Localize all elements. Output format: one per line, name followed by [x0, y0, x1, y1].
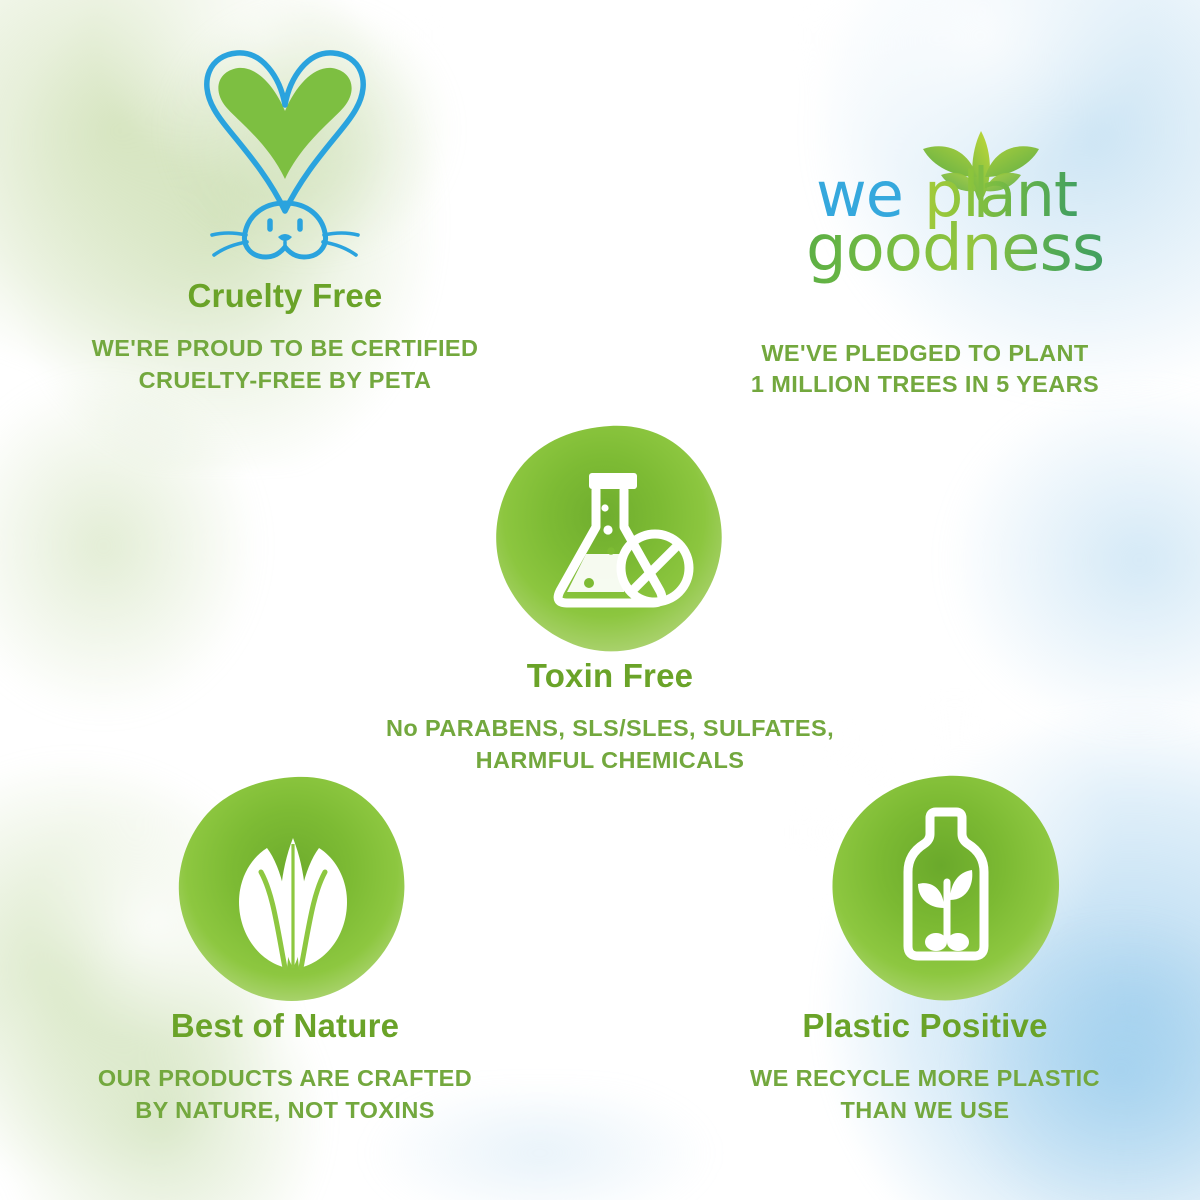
subtext-plastic-positive-line-1: WE RECYCLE MORE PLASTIC: [670, 1063, 1180, 1094]
subtext-plant-pledge-line-1: WE'VE PLEDGED TO PLANT: [670, 338, 1180, 369]
subtext-toxin-free-line-2: HARMFUL CHEMICALS: [350, 745, 870, 776]
logo-word-goodness: goodness: [806, 212, 1104, 286]
subtext-best-of-nature-line-2: BY NATURE, NOT TOXINS: [30, 1095, 540, 1126]
section-cruelty-free-text: Cruelty Free WE'RE PROUD TO BE CERTIFIED…: [30, 278, 540, 396]
watercolor-wash-left-middle: [0, 330, 280, 810]
subtext-cruelty-free-line-2: CRUELTY-FREE BY PETA: [30, 365, 540, 396]
subtext-best-of-nature-line-1: OUR PRODUCTS ARE CRAFTED: [30, 1063, 540, 1094]
section-toxin-free-text: Toxin Free No PARABENS, SLS/SLES, SULFAT…: [350, 658, 870, 776]
heading-plastic-positive: Plastic Positive: [670, 1008, 1180, 1044]
subtext-plastic-positive-line-2: THAN WE USE: [670, 1095, 1180, 1126]
section-we-plant-goodness-text: WE'VE PLEDGED TO PLANT 1 MILLION TREES I…: [670, 338, 1180, 401]
leaves-icon: [173, 772, 413, 1012]
bottle-sprout-icon: [826, 772, 1066, 1012]
heading-best-of-nature: Best of Nature: [30, 1008, 540, 1044]
infographic-canvas: Cruelty Free WE'RE PROUD TO BE CERTIFIED…: [0, 0, 1200, 1200]
heading-cruelty-free: Cruelty Free: [30, 278, 540, 314]
flask-no-entry-icon: [490, 420, 730, 660]
bunny-heart-icon: [190, 35, 380, 265]
subtext-plant-pledge-line-2: 1 MILLION TREES IN 5 YEARS: [670, 369, 1180, 400]
subtext-toxin-free-line-1: No PARABENS, SLS/SLES, SULFATES,: [350, 713, 870, 744]
we-plant-goodness-logo: we plant goodness: [800, 130, 1120, 300]
section-best-of-nature-text: Best of Nature OUR PRODUCTS ARE CRAFTED …: [30, 1008, 540, 1126]
section-plastic-positive-text: Plastic Positive WE RECYCLE MORE PLASTIC…: [670, 1008, 1180, 1126]
subtext-cruelty-free-line-1: WE'RE PROUD TO BE CERTIFIED: [30, 333, 540, 364]
heading-toxin-free: Toxin Free: [350, 658, 870, 694]
